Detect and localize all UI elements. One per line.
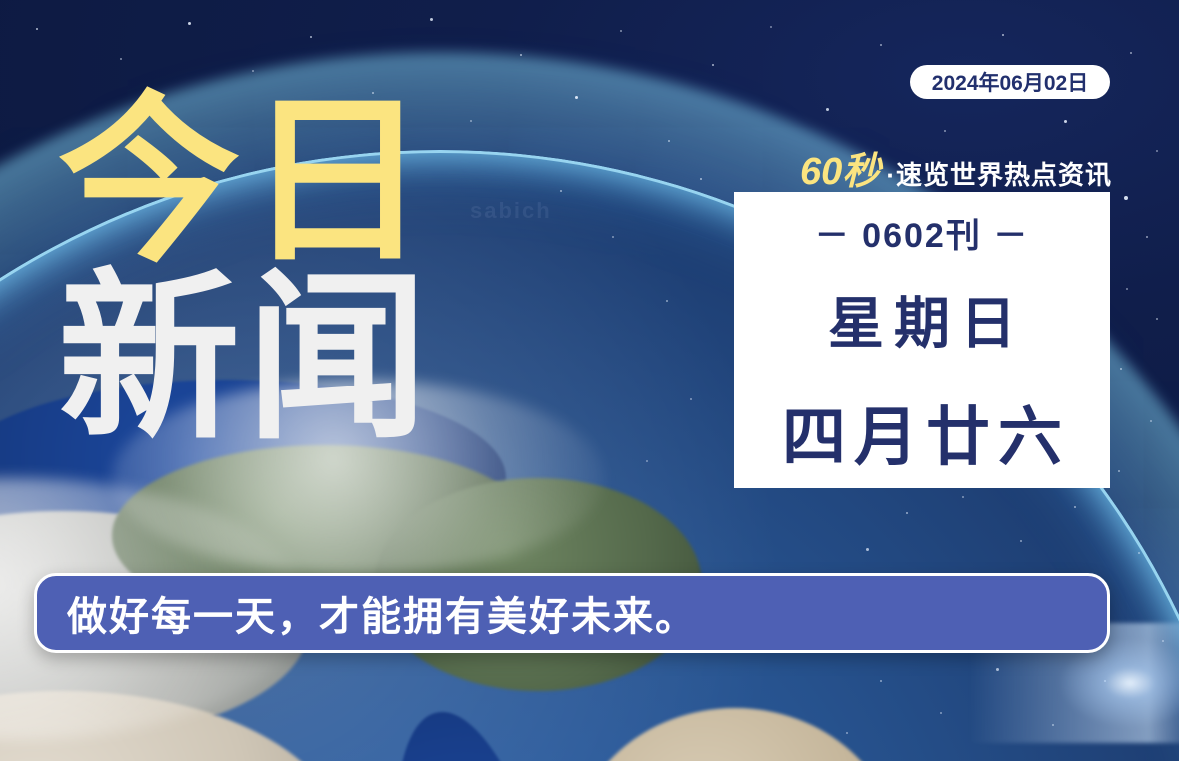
motto-banner: 做好每一天，才能拥有美好未来。 — [34, 573, 1110, 653]
page-title-line1: 今日 — [58, 96, 434, 267]
tagline-rest: ·速览世界热点资讯 — [886, 155, 1112, 192]
tagline-seconds: 60秒 — [800, 140, 880, 195]
tagline: 60秒 ·速览世界热点资讯 — [742, 140, 1112, 195]
date-badge-label: 2024年06月02日 — [932, 67, 1088, 97]
page-title: 今日 新闻 — [58, 96, 434, 444]
lunar-date: 四月廿六 — [774, 386, 1070, 478]
weekday-label: 星期日 — [818, 279, 1026, 360]
date-badge: 2024年06月02日 — [910, 65, 1110, 99]
page-title-line2: 新闻 — [58, 273, 434, 444]
news-poster: sabich 今日 新闻 2024年06月02日 60秒 ·速览世界热点资讯 －… — [0, 0, 1179, 761]
issue-info-card: － 0602刊 － 星期日 四月廿六 — [734, 192, 1110, 488]
motto-text: 做好每一天，才能拥有美好未来。 — [67, 584, 697, 642]
issue-number: － 0602刊 － — [815, 208, 1030, 257]
